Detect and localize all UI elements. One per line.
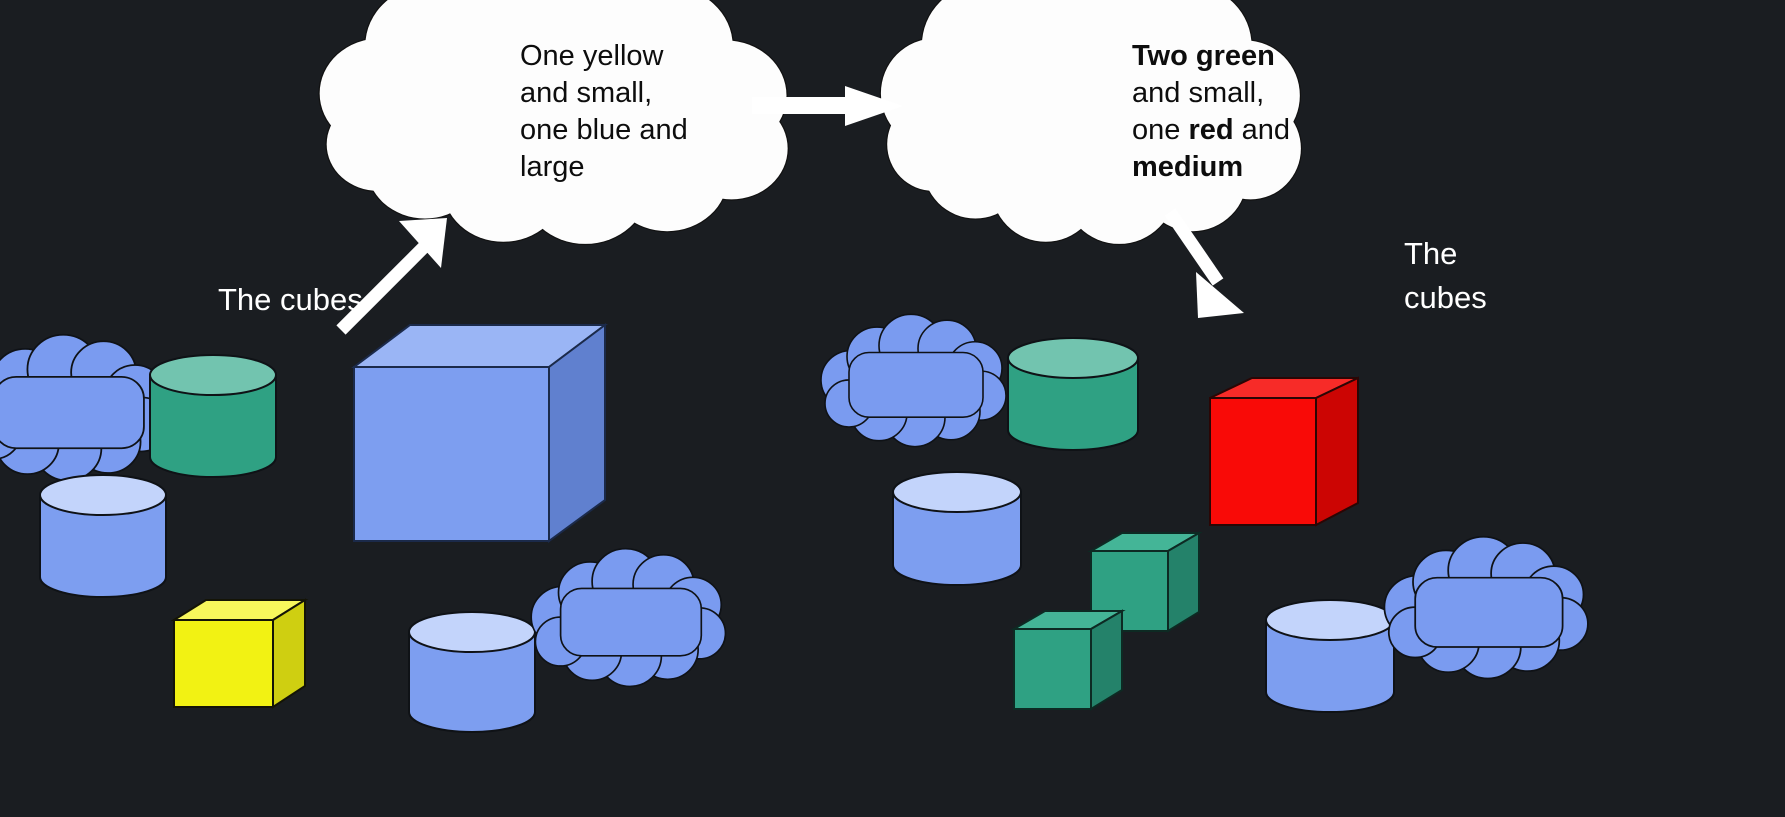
green-cube-small [1014, 611, 1122, 709]
blue-cylinder [1266, 600, 1394, 712]
blue-cylinder [893, 472, 1021, 585]
illustration-svg [0, 0, 1785, 817]
scene-canvas: One yellowand small,one blue andlarge Tw… [0, 0, 1785, 817]
right-scene-label: Thecubes [1404, 232, 1487, 320]
label-line: The [1404, 232, 1487, 276]
teal-cylinder [150, 355, 276, 477]
teal-cylinder [1008, 338, 1138, 450]
label-line: The cubes [218, 278, 363, 322]
blue-cylinder [409, 612, 535, 732]
after-state-speech-bubble [881, 0, 1301, 244]
blue-cylinder [40, 475, 166, 597]
left-scene-label: The cubes [218, 278, 363, 322]
yellow-cube-small [174, 600, 305, 707]
before-state-speech-bubble [320, 0, 788, 244]
blue-cube-large [354, 325, 605, 541]
label-line: cubes [1404, 276, 1487, 320]
red-cube-medium [1210, 378, 1358, 525]
